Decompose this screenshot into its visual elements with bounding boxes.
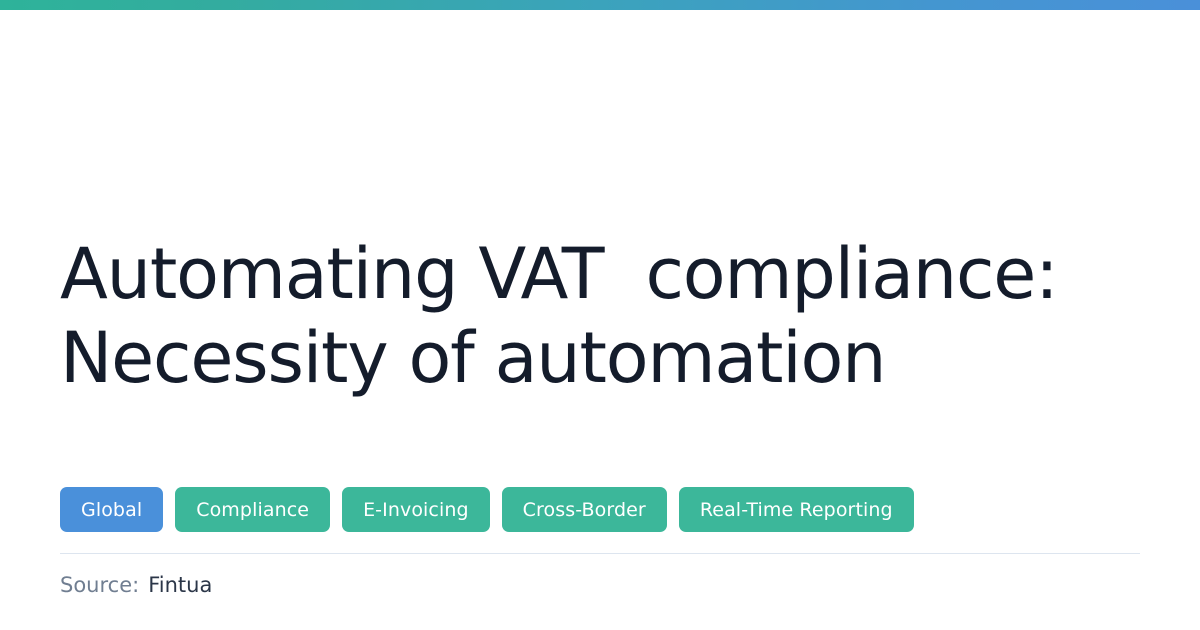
tag-pill-real-time-reporting[interactable]: Real-Time Reporting: [679, 487, 914, 532]
source-value: Fintua: [148, 573, 212, 597]
source-attribution: Source: Fintua: [60, 573, 212, 597]
source-label: Source:: [60, 573, 139, 597]
tag-pill-cross-border[interactable]: Cross-Border: [502, 487, 667, 532]
top-gradient-accent-bar: [0, 0, 1200, 10]
card-body: Automating VAT compliance: Necessity of …: [0, 10, 1200, 630]
tag-pill-e-invoicing[interactable]: E-Invoicing: [342, 487, 490, 532]
share-card: Automating VAT compliance: Necessity of …: [0, 0, 1200, 630]
tag-list: Global Compliance E-Invoicing Cross-Bord…: [60, 487, 1140, 532]
footer-divider: [60, 553, 1140, 554]
tag-pill-compliance[interactable]: Compliance: [175, 487, 330, 532]
title-block: Automating VAT compliance: Necessity of …: [60, 232, 1140, 400]
page-title: Automating VAT compliance: Necessity of …: [60, 232, 1140, 400]
tag-pill-global[interactable]: Global: [60, 487, 163, 532]
